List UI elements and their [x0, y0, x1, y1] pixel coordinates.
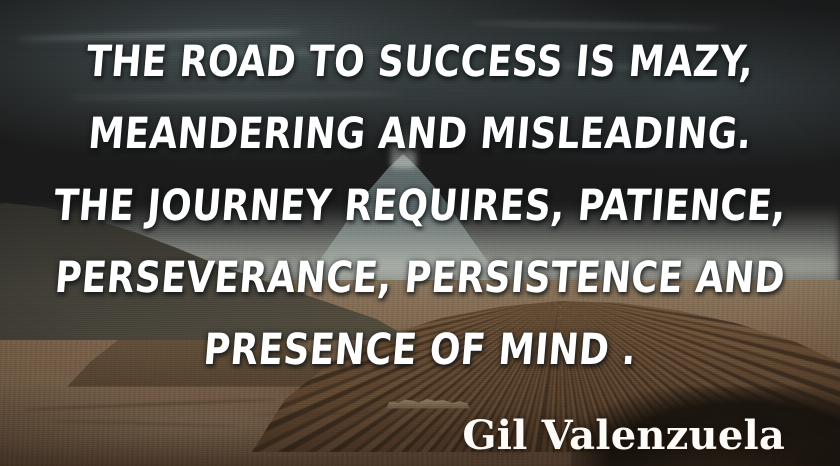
- quote-line-2: MEANDERING AND MISLEADING.: [43, 98, 797, 170]
- text-overlay: THE ROAD TO SUCCESS IS MAZY, MEANDERING …: [0, 0, 840, 466]
- quote-line-3: THE JOURNEY REQUIRES, PATIENCE,: [43, 170, 797, 242]
- quote-line-5: PRESENCE OF MIND .: [43, 314, 797, 386]
- quote-line-1: THE ROAD TO SUCCESS IS MAZY,: [43, 26, 797, 98]
- quote-line-4: PERSEVERANCE, PERSISTENCE AND: [43, 242, 797, 314]
- quote-poster: THE ROAD TO SUCCESS IS MAZY, MEANDERING …: [0, 0, 840, 466]
- quote-text-block: THE ROAD TO SUCCESS IS MAZY, MEANDERING …: [0, 26, 840, 386]
- author-attribution: Gil Valenzuela: [462, 416, 785, 456]
